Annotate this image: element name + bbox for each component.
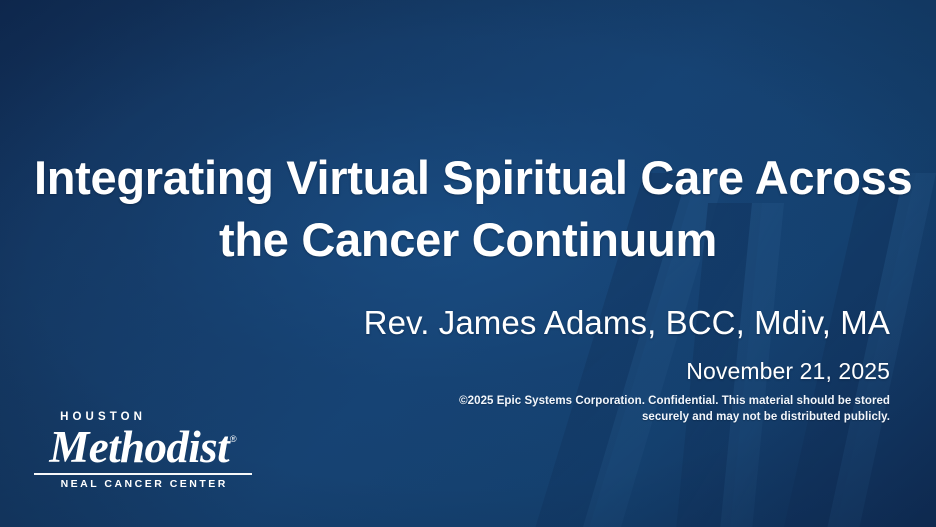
presenter-name: Rev. James Adams, BCC, Mdiv, MA <box>364 304 890 342</box>
title-line-2: the Cancer Continuum <box>34 209 902 271</box>
copyright-notice: ©2025 Epic Systems Corporation. Confiden… <box>364 393 890 426</box>
copyright-line-2: securely and may not be distributed publ… <box>364 409 890 426</box>
registered-trademark-icon: ® <box>230 434 237 444</box>
logo-neal-cancer-center-text: NEAL CANCER CENTER <box>34 479 252 490</box>
page-title: Integrating Virtual Spiritual Care Acros… <box>0 147 936 270</box>
title-slide: Integrating Virtual Spiritual Care Acros… <box>0 0 936 527</box>
presentation-date: November 21, 2025 <box>364 358 890 386</box>
slide-meta-block: Rev. James Adams, BCC, Mdiv, MA November… <box>364 304 890 426</box>
logo-methodist-wordmark: Methodist® <box>34 425 252 469</box>
logo-wordmark-text: Methodist <box>49 422 229 472</box>
title-line-1: Integrating Virtual Spiritual Care Acros… <box>34 147 902 209</box>
logo-divider-rule <box>34 473 252 475</box>
copyright-line-1: ©2025 Epic Systems Corporation. Confiden… <box>364 393 890 410</box>
houston-methodist-logo: HOUSTON Methodist® NEAL CANCER CENTER <box>34 412 252 489</box>
